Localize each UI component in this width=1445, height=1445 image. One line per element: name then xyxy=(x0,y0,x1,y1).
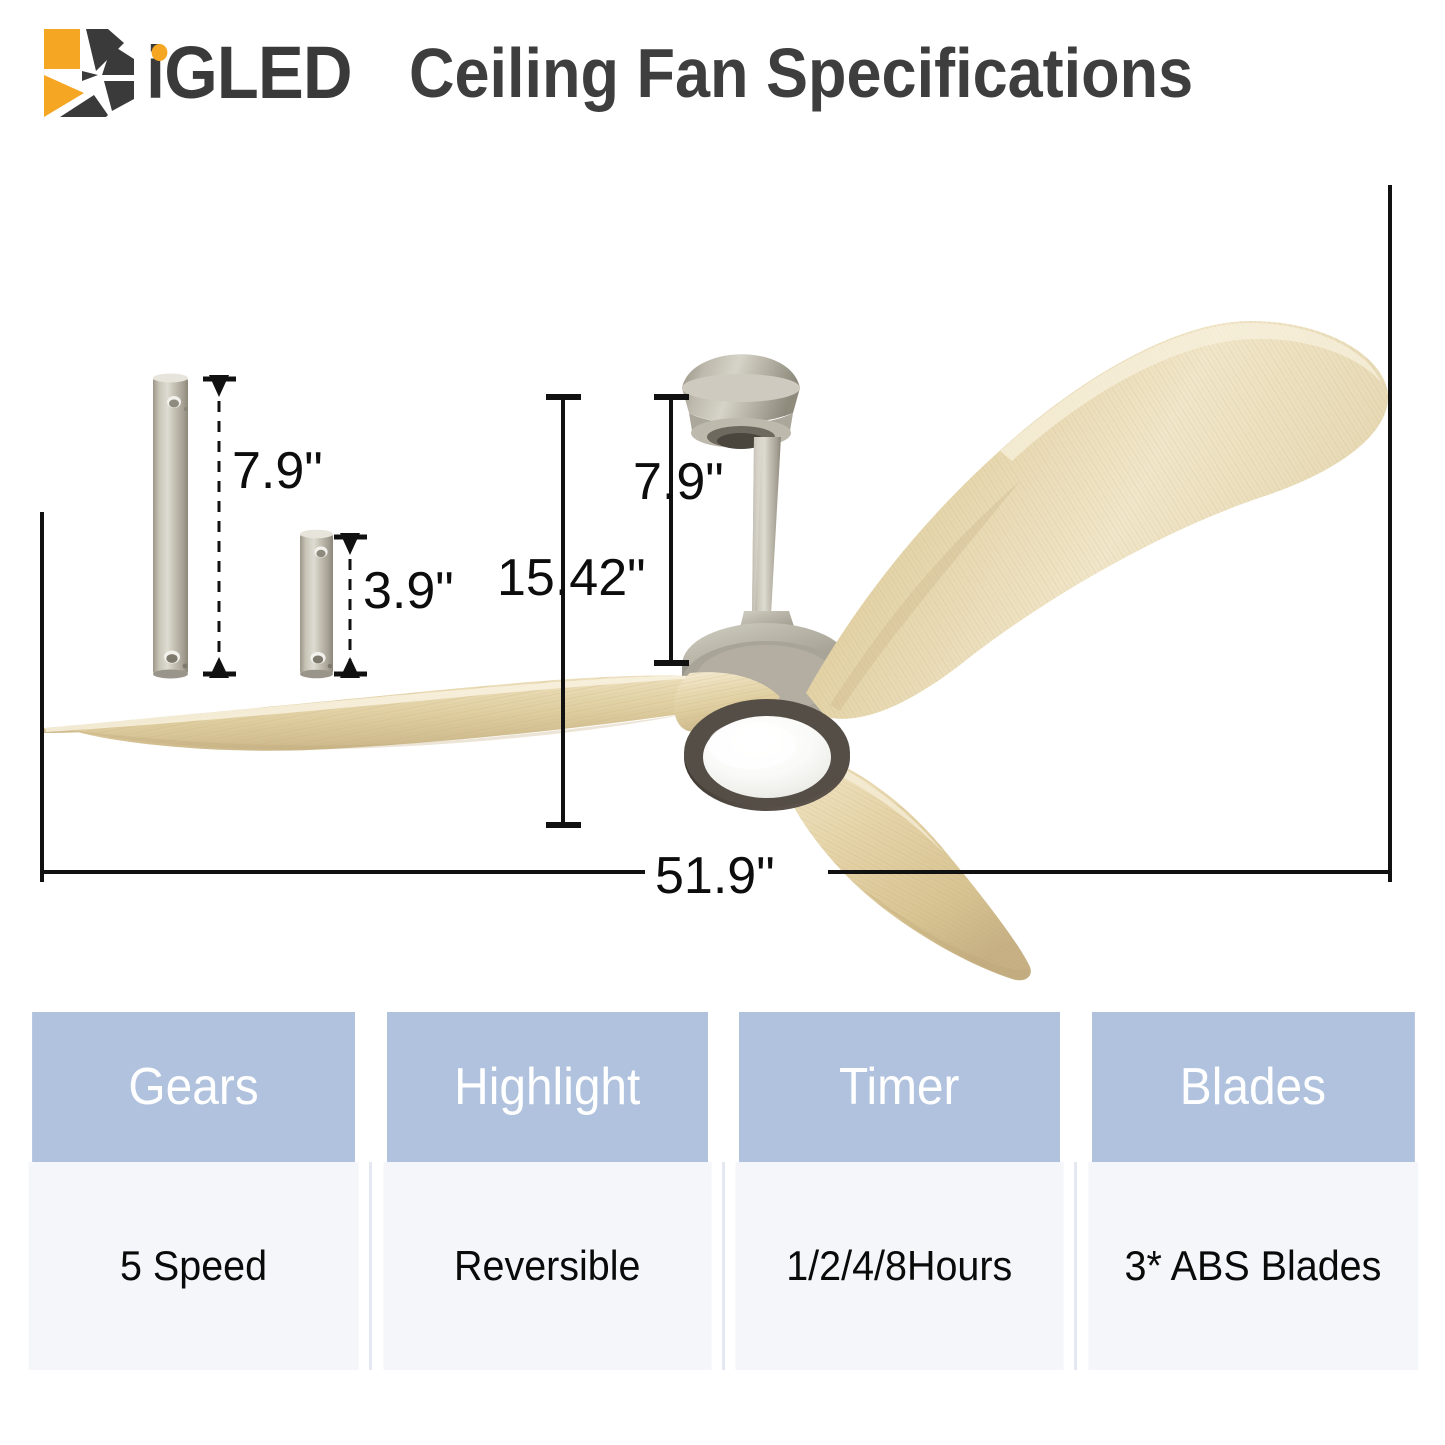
dimension-fan-drop xyxy=(654,397,689,663)
column-header-highlight: Highlight xyxy=(385,1012,709,1162)
cell-highlight: Reversible xyxy=(381,1162,712,1370)
spec-table-body: 5 Speed Reversible 1/2/4/8Hours 3* ABS B… xyxy=(18,1162,1428,1370)
downrod-long-illustration xyxy=(153,374,188,679)
page-title: Ceiling Fan Specifications xyxy=(409,38,1193,108)
logo-i-dot xyxy=(152,44,168,61)
brand-wordmark: iGLED xyxy=(146,36,352,110)
specification-sheet: iGLED Ceiling Fan Specifications xyxy=(0,0,1445,1445)
product-diagram: 7.9" 3.9" xyxy=(0,145,1445,990)
brand-wordmark-text: iGLED xyxy=(146,31,352,114)
cell-blades: 3* ABS Blades xyxy=(1086,1162,1417,1370)
aperture-shutter-icon xyxy=(36,25,148,121)
dimension-label-fan-drop: 7.9" xyxy=(633,453,724,511)
specification-table: Gears Highlight Timer Blades 5 Speed Rev… xyxy=(18,1012,1428,1370)
column-header-blades: Blades xyxy=(1090,1012,1414,1162)
cell-timer: 1/2/4/8Hours xyxy=(734,1162,1065,1370)
cell-gears: 5 Speed xyxy=(29,1162,360,1370)
column-header-timer: Timer xyxy=(737,1012,1061,1162)
table-row: 5 Speed Reversible 1/2/4/8Hours 3* ABS B… xyxy=(18,1162,1428,1370)
dimension-label-fan-height: 15.42" xyxy=(497,549,646,607)
spec-table-header: Gears Highlight Timer Blades xyxy=(18,1012,1428,1162)
dimension-label-downrod-short: 3.9" xyxy=(363,562,454,620)
page-header: iGLED Ceiling Fan Specifications xyxy=(0,0,1445,145)
dimension-label-blade-span: 51.9" xyxy=(655,847,775,905)
dimension-fan-height xyxy=(546,397,581,825)
dimension-label-downrod-long: 7.9" xyxy=(232,442,323,500)
downrod-short-illustration xyxy=(300,530,333,679)
column-header-gears: Gears xyxy=(32,1012,356,1162)
dimension-downrod-long xyxy=(203,375,236,678)
table-header-row: Gears Highlight Timer Blades xyxy=(18,1012,1428,1162)
